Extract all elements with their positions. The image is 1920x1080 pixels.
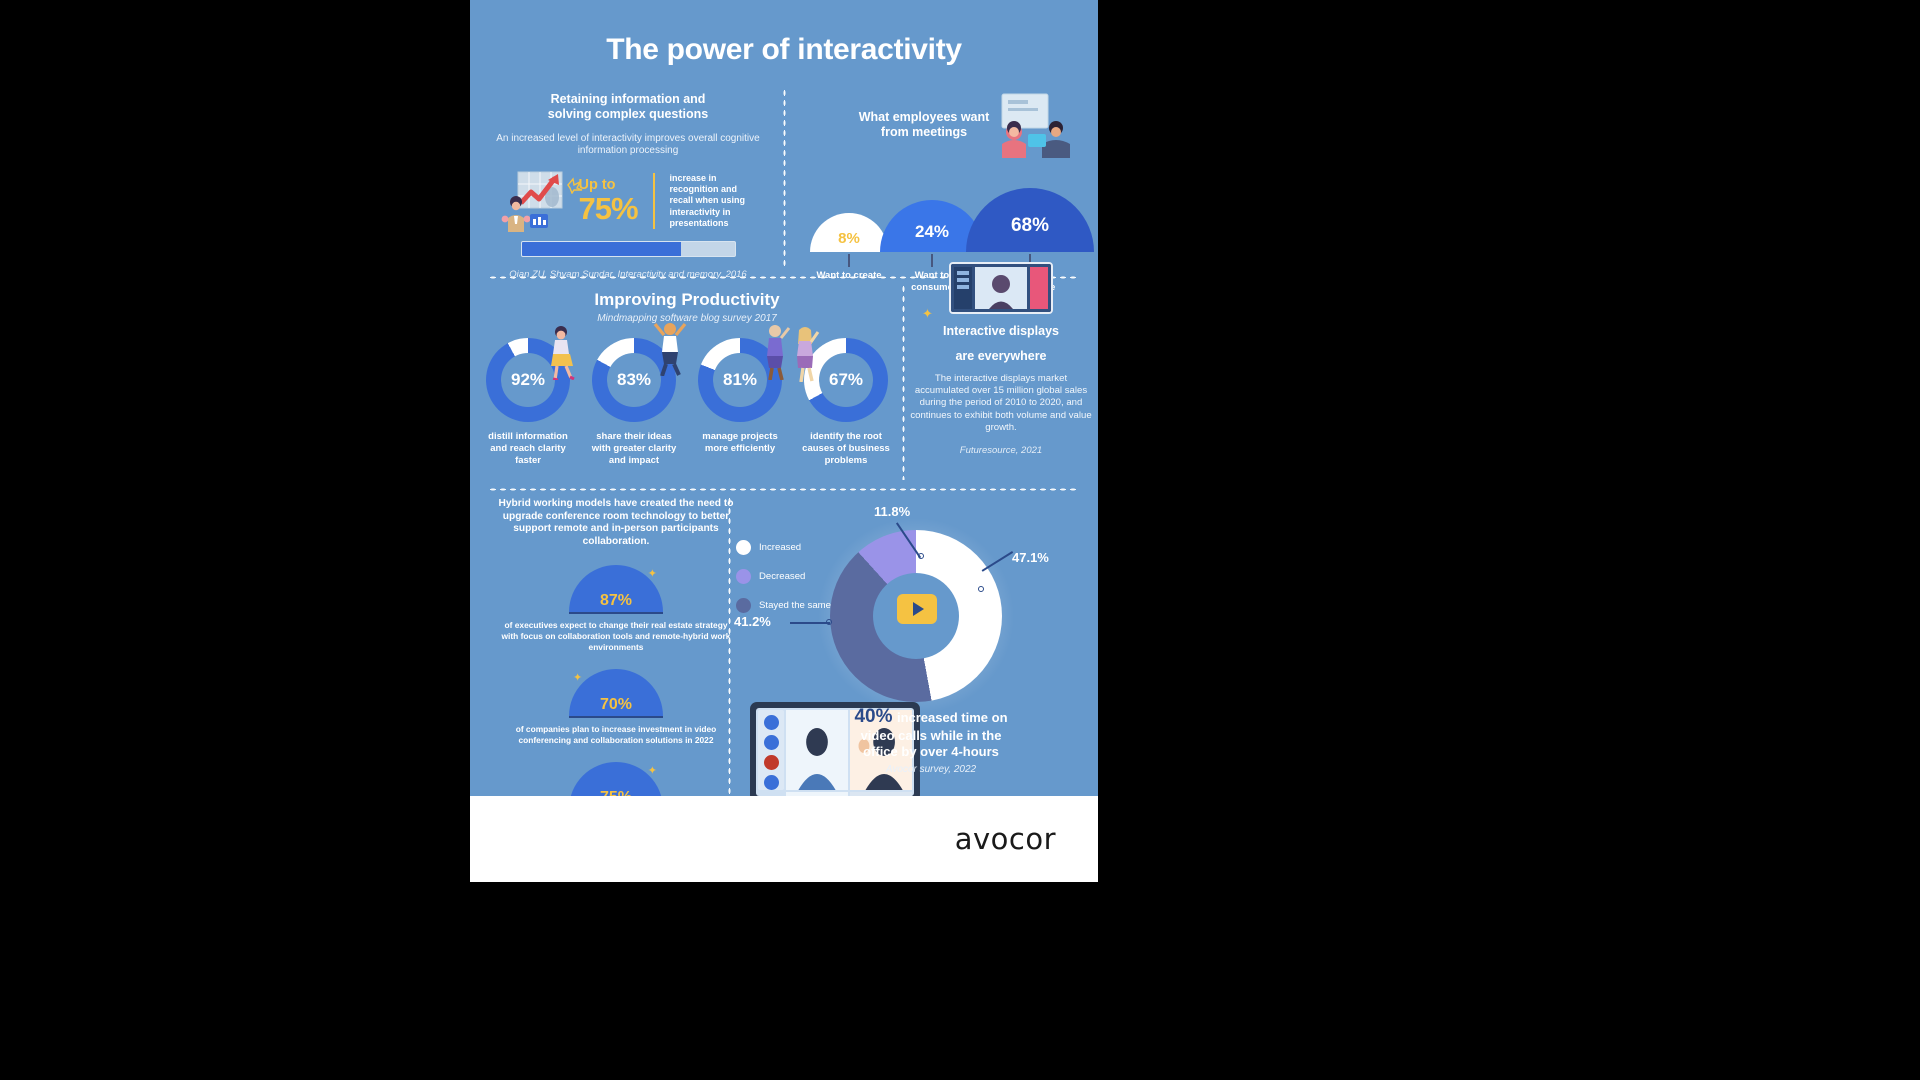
infographic-poster: The power of interactivity Retaining inf… <box>470 0 1098 882</box>
retention-subtitle: An increased level of interactivity impr… <box>478 133 778 157</box>
displays-heading-line2: are everywhere <box>908 349 1094 364</box>
two-people-meeting-illustration <box>984 88 1088 163</box>
sparkle-icon-displays: ✦ <box>922 306 933 322</box>
panel-videocall-stat: 40% increased time on video calls while … <box>770 706 1092 775</box>
woman-with-growth-chart-illustration <box>500 170 572 232</box>
videocalls-leader-end-left <box>826 619 832 625</box>
hybrid-value-0: 87% <box>600 592 632 610</box>
sparkle-icon-75: ✦ <box>648 764 657 777</box>
hybrid-stat-1: ✦ 70% <box>569 669 663 718</box>
videocall-stat-text1: increased time on <box>897 710 1008 725</box>
retention-citation: Qian ZU, Shyam Sundar, Interactivity and… <box>478 269 778 280</box>
divider-horizontal-lower <box>488 488 1080 491</box>
woman-dancing-illustration <box>546 324 580 380</box>
videocalls-leader-left <box>790 622 830 624</box>
video-camera-icon <box>897 594 937 624</box>
panel-hybrid-working: Hybrid working models have created the n… <box>498 498 734 839</box>
retention-stat-description: increase in recognition and recall when … <box>670 173 756 229</box>
panel-retaining-information: Retaining information and solving comple… <box>478 92 778 280</box>
hybrid-stat-0: ✦ 87% <box>569 565 663 614</box>
videocalls-callout-left: 41.2% <box>734 614 771 629</box>
displays-body: The interactive displays market accumula… <box>908 373 1094 434</box>
retention-progress-bar <box>521 241 736 257</box>
divider-vertical-top <box>783 88 786 268</box>
retention-up-to-label: Up to <box>578 178 637 193</box>
footer-bar: avocor <box>470 796 1098 882</box>
videocalls-leader-end-right <box>978 586 984 592</box>
divider-vertical-middle <box>902 284 905 480</box>
displays-heading-line1: Interactive displays <box>908 324 1094 339</box>
man-jumping-illustration <box>652 320 688 376</box>
avocor-logo: avocor <box>955 822 1056 856</box>
productivity-value-3: 67% <box>829 370 863 390</box>
productivity-value-0: 92% <box>511 370 545 390</box>
productivity-item-2: 81% manage projects more efficiently <box>692 338 788 466</box>
meetings-value-collaborate: 68% <box>1011 215 1049 237</box>
meetings-label-create: Want to create <box>814 270 884 282</box>
productivity-item-0: 92% distill informat <box>480 338 576 466</box>
productivity-caption-3: identify the root causes of business pro… <box>798 431 894 466</box>
meetings-bar-chart: 8% 24% 68% Want to create Want to consum… <box>808 172 1078 252</box>
panel-improving-productivity: Improving Productivity Mindmapping softw… <box>478 290 896 466</box>
meetings-tick-create <box>848 254 850 267</box>
hybrid-caption-1: of companies plan to increase investment… <box>498 724 734 745</box>
retention-stat-rule <box>653 173 655 229</box>
hybrid-intro: Hybrid working models have created the n… <box>498 498 734 548</box>
productivity-value-1: 83% <box>617 370 651 390</box>
sparkle-icon <box>564 176 584 194</box>
legend-label-increased: Increased <box>759 542 801 553</box>
meetings-bar-create: 8% <box>810 213 888 252</box>
productivity-caption-1: share their ideas with greater clarity a… <box>586 431 682 466</box>
screenshot-canvas: The power of interactivity Retaining inf… <box>0 0 1920 1080</box>
meetings-value-create: 8% <box>838 230 860 247</box>
sidebar-icon-4 <box>764 775 779 790</box>
panel-interactive-displays: ✦ Interactive displays are everywhere Th… <box>908 262 1094 456</box>
page-title: The power of interactivity <box>470 33 1098 67</box>
panel-employees-want: What employees want from meetings <box>788 110 1090 140</box>
productivity-value-2: 81% <box>723 370 757 390</box>
meetings-bar-collaborate: 68% <box>966 188 1094 252</box>
legend-swatch-increased <box>736 540 751 555</box>
woman-standing-illustration <box>788 324 822 382</box>
productivity-donut-group: 92% distill informat <box>478 338 896 466</box>
videocall-stat-line1: 40% increased time on <box>770 706 1092 728</box>
legend-swatch-decreased <box>736 569 751 584</box>
videocall-citation: Avocor survey, 2022 <box>770 764 1092 775</box>
videocalls-callout-top: 11.8% <box>874 504 910 519</box>
productivity-caption-0: distill information and reach clarity fa… <box>480 431 576 466</box>
hybrid-value-1: 70% <box>600 696 632 714</box>
meetings-value-consume: 24% <box>915 222 949 242</box>
videocall-stat-text2: video calls while in the <box>770 728 1092 744</box>
hybrid-rule-0 <box>569 612 663 614</box>
productivity-item-3: 67% identify the root causes of bus <box>798 338 894 466</box>
sparkle-icon-70: ✦ <box>573 671 582 684</box>
retention-progress-fill <box>522 242 682 256</box>
productivity-caption-2: manage projects more efficiently <box>692 431 788 455</box>
videocalls-callout-right: 47.1% <box>1012 550 1049 565</box>
hybrid-arc-0: ✦ 87% <box>569 565 663 612</box>
retention-stat-block: Up to 75% <box>578 178 637 224</box>
retention-heading-line2: solving complex questions <box>478 107 778 122</box>
productivity-item-1: 83% share their ideas with greater <box>586 338 682 466</box>
sparkle-icon-87: ✦ <box>648 567 657 580</box>
retention-heading-line1: Retaining information and <box>478 92 778 107</box>
person-celebrating-illustration <box>758 322 792 380</box>
videocall-stat-number: 40% <box>854 706 892 727</box>
hybrid-rule-1 <box>569 716 663 718</box>
legend-swatch-stayed <box>736 598 751 613</box>
displays-citation: Futuresource, 2021 <box>908 445 1094 456</box>
productivity-heading: Improving Productivity <box>478 290 896 310</box>
videocalls-leader-end-top <box>918 553 924 559</box>
videocall-stat-text3: office by over 4-hours <box>770 744 1092 760</box>
hybrid-arc-1: ✦ 70% <box>569 669 663 716</box>
retention-stat-value: 75% <box>578 193 637 224</box>
meetings-label-create-text: Want to create <box>816 270 881 281</box>
hybrid-caption-0: of executives expect to change their rea… <box>498 620 734 652</box>
legend-label-decreased: Decreased <box>759 571 805 582</box>
retention-stat-row: Up to 75% increase in recognition and re… <box>478 170 778 232</box>
video-call-on-display-illustration <box>949 262 1053 314</box>
